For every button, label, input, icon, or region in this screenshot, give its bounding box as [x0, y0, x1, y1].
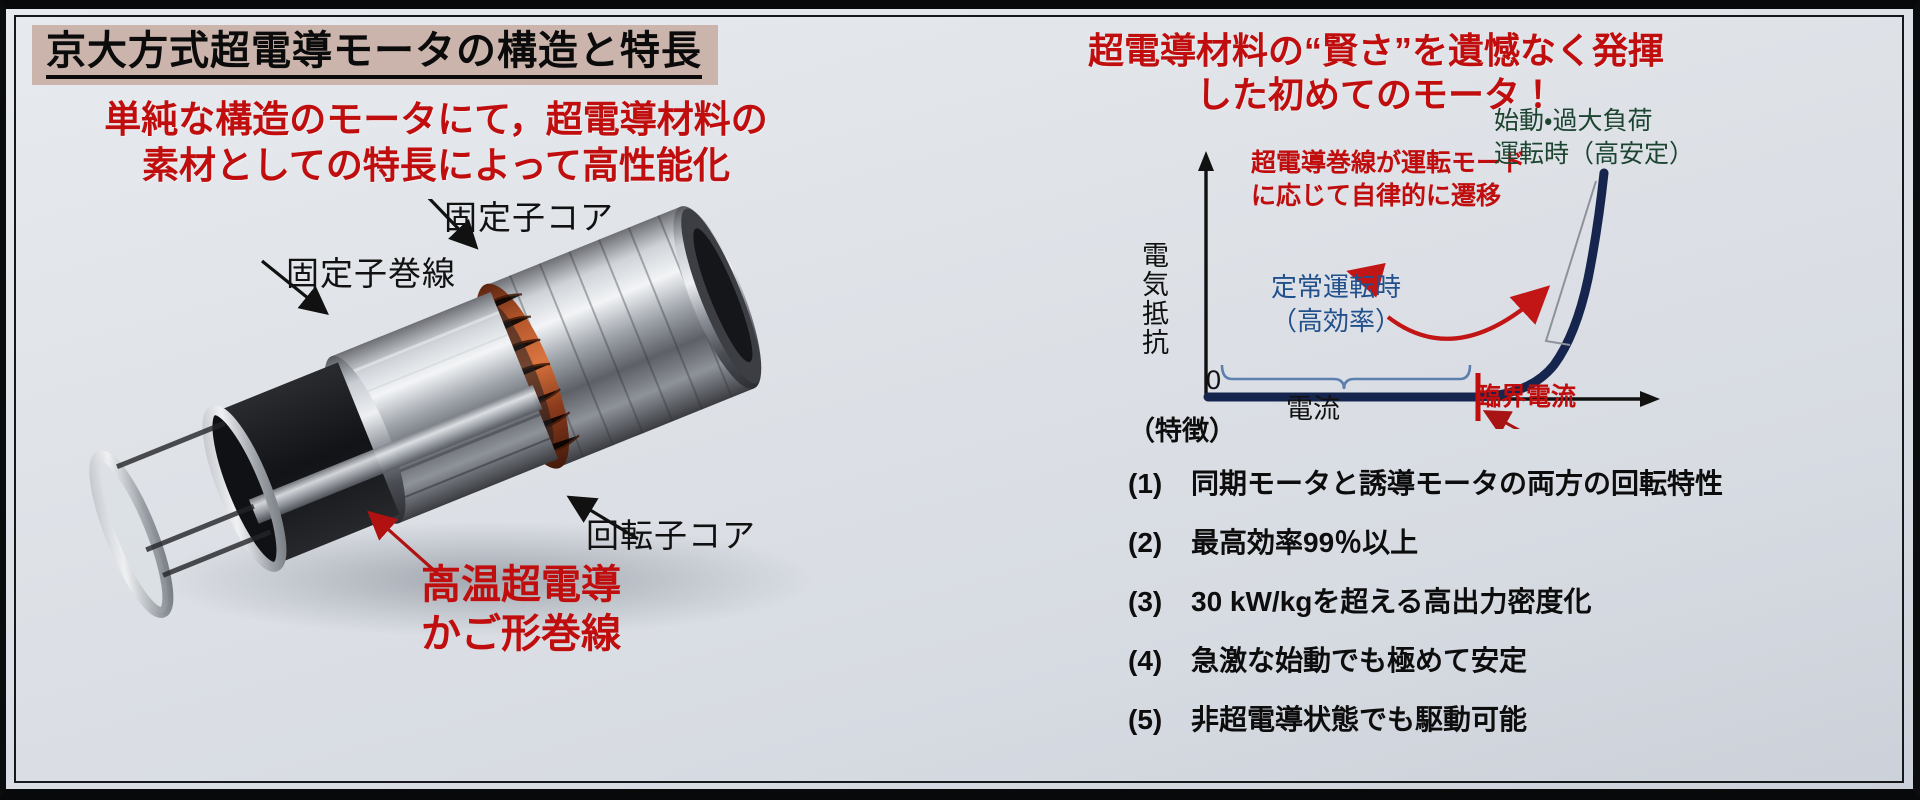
feature-item-5: (5) 非超電導状態でも駆動可能 — [1128, 698, 1908, 738]
label-critical-current: 臨界電流 — [1476, 377, 1576, 413]
feature-item-3: (3) 30 kW/kgを超える高出力密度化 — [1128, 580, 1908, 620]
right-heading-line-1: 超電導材料の“賢さ”を遺憾なく発揮 — [1026, 29, 1726, 73]
label-rotor-core: 回転子コア — [586, 509, 756, 557]
label-hts-cage-winding: 高温超電導 かご形巻線 — [356, 561, 686, 659]
right-heading: 超電導材料の“賢さ”を遺憾なく発揮 した初めてのモータ！ — [1026, 29, 1726, 117]
feature-text-4: 急激な始動でも極めて安定 — [1191, 639, 1527, 679]
note-transition-line-2: に応じて自律的に遷移 — [1251, 180, 1526, 213]
feature-number-2: (2) — [1128, 527, 1182, 559]
note-startup-overload: 始動・過大負荷 運転時（高安定） — [1494, 105, 1694, 171]
page-title: 京大方式超電導モータの構造と特長 — [46, 29, 702, 79]
steady-operation-brace — [1222, 365, 1470, 389]
left-subtitle-line-2: 素材としての特長によって高性能化 — [6, 143, 866, 189]
chart-origin-label: 0 — [1206, 365, 1221, 396]
note-steady-line-1: 定常運転時 — [1246, 271, 1426, 305]
feature-number-1: (1) — [1128, 468, 1182, 500]
label-hts-cage-line-2: かご形巻線 — [356, 610, 686, 659]
features-heading: （特徴） — [1128, 409, 1908, 448]
feature-item-4: (4) 急激な始動でも極めて安定 — [1128, 639, 1908, 679]
left-subtitle-line-1: 単純な構造のモータにて，超電導材料の — [6, 97, 866, 143]
feature-number-3: (3) — [1128, 586, 1182, 618]
page-title-banner: 京大方式超電導モータの構造と特長 — [32, 25, 718, 85]
feature-text-5: 非超電導状態でも駆動可能 — [1191, 698, 1527, 738]
chart-x-axis-arrowhead — [1640, 391, 1660, 407]
note-steady-line-2: （高効率） — [1246, 305, 1426, 339]
feature-text-3: 30 kW/kgを超える高出力密度化 — [1191, 580, 1592, 620]
label-hts-cage-line-1: 高温超電導 — [356, 561, 686, 610]
slide-board: 京大方式超電導モータの構造と特長 単純な構造のモータにて，超電導材料の 素材とし… — [0, 0, 1920, 800]
label-stator-core: 固定子コア — [444, 191, 614, 239]
feature-item-2: (2) 最高効率99％以上 — [1128, 521, 1908, 561]
note-autonomous-transition: 超電導巻線が運転モード に応じて自律的に遷移 — [1251, 147, 1526, 212]
chart-y-axis-label: 電気抵抗 — [1134, 241, 1173, 357]
note-startup-line-1: 始動・過大負荷 — [1494, 105, 1694, 138]
feature-number-5: (5) — [1128, 704, 1182, 736]
feature-item-1: (1) 同期モータと誘導モータの両方の回転特性 — [1128, 462, 1908, 502]
note-steady-operation: 定常運転時 （高効率） — [1246, 271, 1426, 339]
feature-text-2: 最高効率99％以上 — [1191, 521, 1418, 561]
feature-text-1: 同期モータと誘導モータの両方の回転特性 — [1191, 462, 1723, 502]
feature-number-4: (4) — [1128, 645, 1182, 677]
note-startup-line-2: 運転時（高安定） — [1494, 138, 1694, 171]
note-transition-line-1: 超電導巻線が運転モード — [1251, 147, 1526, 180]
chart-y-axis-arrowhead — [1198, 151, 1214, 171]
left-subtitle: 単純な構造のモータにて，超電導材料の 素材としての特長によって高性能化 — [6, 97, 866, 190]
label-stator-winding: 固定子巻線 — [286, 247, 456, 295]
features-list: （特徴） (1) 同期モータと誘導モータの両方の回転特性 (2) 最高効率99％… — [1128, 409, 1908, 757]
